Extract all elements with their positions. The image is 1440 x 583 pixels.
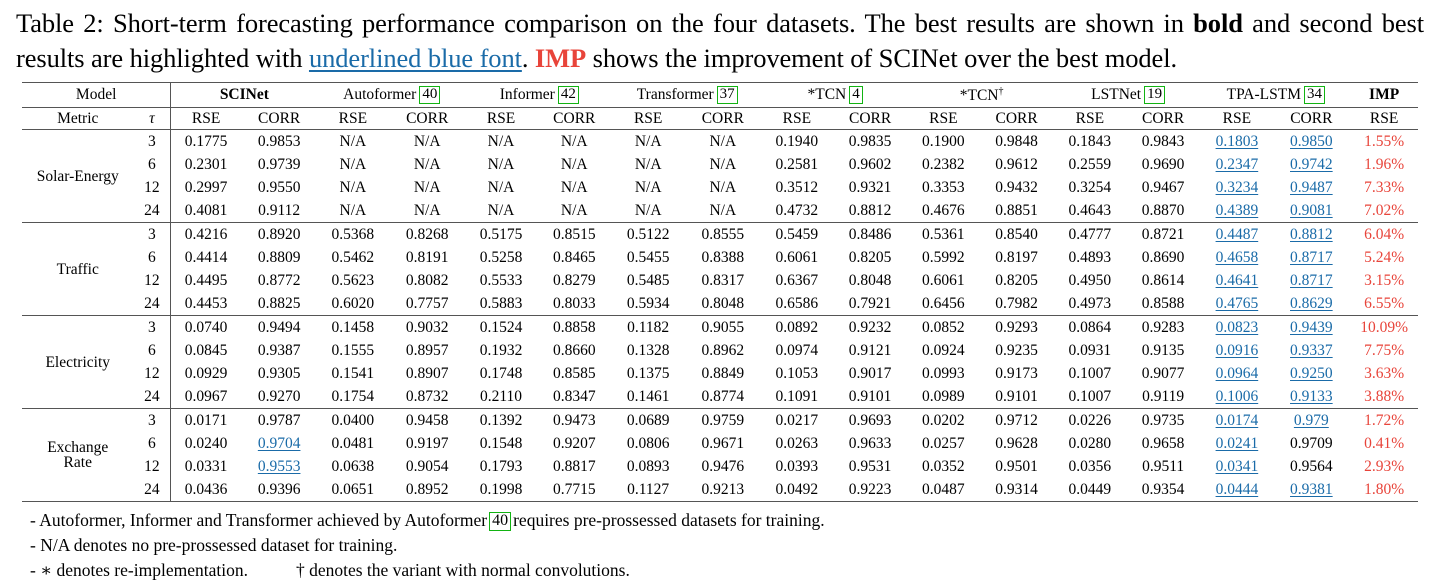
header-model-label: Model — [22, 83, 171, 108]
cell-corr: 0.9704 — [241, 432, 318, 455]
cell-rse: 0.3512 — [762, 176, 832, 199]
note-line-2: - N/A denotes no pre-prossessed dataset … — [30, 533, 1440, 558]
cell-corr: N/A — [388, 199, 466, 223]
cell-corr: 0.9232 — [832, 316, 909, 340]
cell-rse: N/A — [466, 176, 536, 199]
table-row: Traffic30.42160.89200.53680.82680.51750.… — [22, 223, 1418, 247]
header-imp-rse: RSE — [1350, 107, 1418, 130]
cell-corr: 0.8957 — [388, 339, 466, 362]
cell-rse: N/A — [466, 199, 536, 223]
caption-suffix: shows the improvement of SCINet over the… — [586, 43, 1177, 73]
cell-rse: 0.1461 — [613, 385, 684, 409]
cell-rse: 0.0202 — [908, 409, 978, 433]
cell-imp: 7.33% — [1350, 176, 1418, 199]
cell-corr: 0.9223 — [832, 478, 909, 502]
cell-corr: 0.8614 — [1125, 269, 1202, 292]
cell-rse: 0.0689 — [613, 409, 684, 433]
cell-rse: 0.0393 — [762, 455, 832, 478]
note3-text-b: † denotes the variant with normal convol… — [296, 560, 630, 580]
cell-rse: 0.0893 — [613, 455, 684, 478]
cell-corr: 0.8717 — [1272, 269, 1350, 292]
cell-rse: 0.5175 — [466, 223, 536, 247]
cell-corr: 0.9550 — [241, 176, 318, 199]
cell-corr: 0.9853 — [241, 130, 318, 154]
cell-rse: 0.0806 — [613, 432, 684, 455]
cell-rse: 0.0487 — [908, 478, 978, 502]
cell-corr: 0.9112 — [241, 199, 318, 223]
cell-corr: 0.8812 — [1272, 223, 1350, 247]
cell-rse: 0.6061 — [908, 269, 978, 292]
cell-rse: 0.0241 — [1201, 432, 1272, 455]
cell-corr: 0.9628 — [978, 432, 1055, 455]
header-corr: CORR — [684, 107, 762, 130]
cell-imp: 1.80% — [1350, 478, 1418, 502]
cell-rse: 0.1375 — [613, 362, 684, 385]
cell-corr: 0.9476 — [684, 455, 762, 478]
cell-corr: 0.8907 — [388, 362, 466, 385]
cell-corr: 0.9396 — [241, 478, 318, 502]
cell-corr: 0.8048 — [832, 269, 909, 292]
cell-corr: 0.9283 — [1125, 316, 1202, 340]
cell-imp: 7.75% — [1350, 339, 1418, 362]
results-table-wrapper: ModelSCINetAutoformer40Informer42Transfo… — [22, 82, 1418, 502]
cell-rse: 0.0740 — [171, 316, 241, 340]
cell-rse: 0.1328 — [613, 339, 684, 362]
cell-imp: 1.72% — [1350, 409, 1418, 433]
cell-rse: N/A — [613, 153, 684, 176]
cell-corr: 0.9843 — [1125, 130, 1202, 154]
model-group-name: SCINet — [220, 86, 269, 103]
table-row: 60.02400.97040.04810.91970.15480.92070.0… — [22, 432, 1418, 455]
caption-bold-word: bold — [1193, 8, 1243, 38]
cell-corr: 0.9633 — [832, 432, 909, 455]
cell-rse: 0.4216 — [171, 223, 241, 247]
cell-corr: 0.9735 — [1125, 409, 1202, 433]
cell-corr: 0.7757 — [388, 292, 466, 316]
cell-corr: 0.8629 — [1272, 292, 1350, 316]
cell-corr: 0.9121 — [832, 339, 909, 362]
cell-corr: 0.8849 — [684, 362, 762, 385]
cell-corr: 0.8082 — [388, 269, 466, 292]
cell-rse: 0.5462 — [317, 246, 388, 269]
cell-rse: 0.4973 — [1055, 292, 1125, 316]
cell-corr: 0.9602 — [832, 153, 909, 176]
table-row: Electricity30.07400.94940.14580.90320.15… — [22, 316, 1418, 340]
cell-rse: N/A — [317, 199, 388, 223]
cell-corr: 0.9739 — [241, 153, 318, 176]
cell-rse: 0.3353 — [908, 176, 978, 199]
cell-rse: 0.0964 — [1201, 362, 1272, 385]
header-corr: CORR — [978, 107, 1055, 130]
cell-corr: 0.8540 — [978, 223, 1055, 247]
cell-corr: 0.8774 — [684, 385, 762, 409]
cell-rse: 0.0924 — [908, 339, 978, 362]
header-model-transformer: Transformer37 — [613, 83, 762, 108]
cell-rse: 0.4641 — [1201, 269, 1272, 292]
cell-rse: 0.0263 — [762, 432, 832, 455]
cell-corr: 0.8205 — [832, 246, 909, 269]
cell-corr: 0.9354 — [1125, 478, 1202, 502]
cell-corr: 0.8962 — [684, 339, 762, 362]
cell-rse: 0.4453 — [171, 292, 241, 316]
cell-corr: N/A — [388, 153, 466, 176]
cell-rse: 0.0481 — [317, 432, 388, 455]
cell-corr: 0.9017 — [832, 362, 909, 385]
cell-rse: 0.2997 — [171, 176, 241, 199]
cell-rse: 0.0974 — [762, 339, 832, 362]
cell-corr: 0.7921 — [832, 292, 909, 316]
cell-corr: 0.8952 — [388, 478, 466, 502]
cell-rse: 0.5122 — [613, 223, 684, 247]
cell-rse: 0.1524 — [466, 316, 536, 340]
cell-corr: 0.8486 — [832, 223, 909, 247]
table-row: 120.29970.9550N/AN/AN/AN/AN/AN/A0.35120.… — [22, 176, 1418, 199]
cell-rse: 0.6061 — [762, 246, 832, 269]
cell-corr: 0.8205 — [978, 269, 1055, 292]
cell-corr: 0.8388 — [684, 246, 762, 269]
model-group-name: Autoformer — [343, 86, 416, 103]
cell-corr: 0.9658 — [1125, 432, 1202, 455]
cell-rse: N/A — [613, 199, 684, 223]
cell-corr: 0.9250 — [1272, 362, 1350, 385]
table-row: 60.23010.9739N/AN/AN/AN/AN/AN/A0.25810.9… — [22, 153, 1418, 176]
cell-rse: 0.2110 — [466, 385, 536, 409]
header-rse: RSE — [613, 107, 684, 130]
dataset-label-line2: Rate — [64, 454, 92, 471]
cell-rse: 0.0400 — [317, 409, 388, 433]
dataset-label-traffic: Traffic — [22, 223, 134, 316]
cell-corr: 0.8851 — [978, 199, 1055, 223]
cell-corr: 0.9337 — [1272, 339, 1350, 362]
cell-rse: 0.0240 — [171, 432, 241, 455]
citation-40[interactable]: 40 — [419, 86, 440, 104]
cell-corr: 0.9494 — [241, 316, 318, 340]
cell-corr: 0.9381 — [1272, 478, 1350, 502]
cell-corr: 0.9101 — [978, 385, 1055, 409]
cell-corr: 0.9487 — [1272, 176, 1350, 199]
cell-corr: 0.9439 — [1272, 316, 1350, 340]
header-rse: RSE — [466, 107, 536, 130]
cell-rse: 0.1007 — [1055, 362, 1125, 385]
tau-value: 24 — [134, 478, 171, 502]
cell-rse: 0.0171 — [171, 409, 241, 433]
citation-37[interactable]: 37 — [717, 86, 738, 104]
cell-corr: 0.9032 — [388, 316, 466, 340]
cell-corr: 0.8588 — [1125, 292, 1202, 316]
cell-rse: 0.5368 — [317, 223, 388, 247]
citation-42[interactable]: 42 — [558, 86, 579, 104]
cell-rse: 0.5533 — [466, 269, 536, 292]
cell-corr: 0.7715 — [536, 478, 613, 502]
header-corr: CORR — [241, 107, 318, 130]
header-rse: RSE — [317, 107, 388, 130]
cell-corr: 0.9511 — [1125, 455, 1202, 478]
header-model-tcn-dagger: *TCN† — [908, 83, 1055, 108]
table-row: 240.44530.88250.60200.77570.58830.80330.… — [22, 292, 1418, 316]
cell-rse: 0.5934 — [613, 292, 684, 316]
caption-blue-link-text: underlined blue font — [309, 43, 522, 73]
cell-rse: 0.0257 — [908, 432, 978, 455]
dagger-icon: † — [999, 86, 1004, 97]
model-group-name: *TCN — [808, 86, 847, 103]
cell-rse: 0.1006 — [1201, 385, 1272, 409]
cell-corr: 0.9693 — [832, 409, 909, 433]
citation-19[interactable]: 19 — [1144, 86, 1165, 104]
cell-rse: 0.6456 — [908, 292, 978, 316]
cell-rse: N/A — [317, 130, 388, 154]
cell-rse: N/A — [466, 153, 536, 176]
cell-corr: 0.9531 — [832, 455, 909, 478]
cell-imp: 5.24% — [1350, 246, 1418, 269]
citation-34[interactable]: 34 — [1304, 86, 1325, 104]
cell-corr: 0.8858 — [536, 316, 613, 340]
cell-rse: 0.0436 — [171, 478, 241, 502]
cell-imp: 1.55% — [1350, 130, 1418, 154]
cell-imp: 3.63% — [1350, 362, 1418, 385]
cell-corr: 0.8809 — [241, 246, 318, 269]
cell-rse: 0.1998 — [466, 478, 536, 502]
table-bottom-rule — [22, 502, 1418, 503]
cell-rse: 0.4081 — [171, 199, 241, 223]
dataset-label-exchange: ExchangeRate — [22, 409, 134, 502]
cell-rse: 0.0864 — [1055, 316, 1125, 340]
note1-citation-40[interactable]: 40 — [489, 512, 511, 531]
cell-corr: N/A — [388, 176, 466, 199]
cell-corr: 0.9759 — [684, 409, 762, 433]
table-row: 120.44950.87720.56230.80820.55330.82790.… — [22, 269, 1418, 292]
cell-corr: 0.8772 — [241, 269, 318, 292]
cell-rse: 0.5361 — [908, 223, 978, 247]
cell-rse: 0.4676 — [908, 199, 978, 223]
model-group-name: Transformer — [637, 86, 714, 103]
cell-rse: 0.5623 — [317, 269, 388, 292]
cell-corr: 0.9173 — [978, 362, 1055, 385]
cell-rse: 0.1053 — [762, 362, 832, 385]
cell-rse: 0.0331 — [171, 455, 241, 478]
model-group-name: Informer — [500, 86, 555, 103]
cell-rse: 0.1007 — [1055, 385, 1125, 409]
cell-corr: 0.8191 — [388, 246, 466, 269]
cell-rse: 0.1458 — [317, 316, 388, 340]
cell-imp: 0.41% — [1350, 432, 1418, 455]
cell-rse: 0.1541 — [317, 362, 388, 385]
tau-value: 12 — [134, 269, 171, 292]
table-row: ExchangeRate30.01710.97870.04000.94580.1… — [22, 409, 1418, 433]
cell-rse: 0.5455 — [613, 246, 684, 269]
cell-rse: 0.0217 — [762, 409, 832, 433]
cell-rse: 0.0651 — [317, 478, 388, 502]
cell-rse: 0.6020 — [317, 292, 388, 316]
table-figure-page: Table 2: Short-term forecasting performa… — [0, 0, 1440, 545]
cell-corr: 0.979 — [1272, 409, 1350, 433]
cell-corr: 0.9054 — [388, 455, 466, 478]
table-caption: Table 2: Short-term forecasting performa… — [0, 0, 1440, 76]
cell-rse: 0.1555 — [317, 339, 388, 362]
cell-rse: 0.2382 — [908, 153, 978, 176]
cell-rse: 0.5992 — [908, 246, 978, 269]
cell-corr: 0.9077 — [1125, 362, 1202, 385]
header-row-metrics: MetricτRSECORRRSECORRRSECORRRSECORRRSECO… — [22, 107, 1418, 130]
tau-value: 3 — [134, 409, 171, 433]
cell-corr: 0.9119 — [1125, 385, 1202, 409]
header-rse: RSE — [1055, 107, 1125, 130]
cell-rse: N/A — [317, 176, 388, 199]
cell-rse: 0.2559 — [1055, 153, 1125, 176]
cell-corr: 0.8585 — [536, 362, 613, 385]
tau-value: 3 — [134, 130, 171, 154]
cell-corr: 0.7982 — [978, 292, 1055, 316]
cell-rse: 0.0356 — [1055, 455, 1125, 478]
cell-corr: N/A — [536, 176, 613, 199]
cell-rse: 0.0967 — [171, 385, 241, 409]
cell-corr: 0.9612 — [978, 153, 1055, 176]
cell-corr: N/A — [684, 153, 762, 176]
table-row: Solar-Energy30.17750.9853N/AN/AN/AN/AN/A… — [22, 130, 1418, 154]
cell-rse: 0.5459 — [762, 223, 832, 247]
cell-rse: 0.0916 — [1201, 339, 1272, 362]
tau-value: 3 — [134, 223, 171, 247]
cell-corr: 0.8465 — [536, 246, 613, 269]
model-group-name: LSTNet — [1091, 86, 1141, 103]
cell-rse: N/A — [317, 153, 388, 176]
table-notes: - Autoformer, Informer and Transformer a… — [30, 508, 1440, 583]
cell-imp: 6.55% — [1350, 292, 1418, 316]
cell-rse: 0.2301 — [171, 153, 241, 176]
note-line-3: - ∗ denotes re-implementation.† denotes … — [30, 558, 1440, 583]
cell-corr: 0.9564 — [1272, 455, 1350, 478]
cell-corr: 0.9742 — [1272, 153, 1350, 176]
tau-value: 6 — [134, 432, 171, 455]
note3-text-a: - ∗ denotes re-implementation. — [30, 560, 248, 580]
cell-rse: 0.1932 — [466, 339, 536, 362]
header-corr: CORR — [536, 107, 613, 130]
cell-rse: 0.0993 — [908, 362, 978, 385]
cell-corr: 0.9787 — [241, 409, 318, 433]
cell-rse: 0.1775 — [171, 130, 241, 154]
tau-value: 24 — [134, 199, 171, 223]
cell-rse: 0.5258 — [466, 246, 536, 269]
cell-corr: 0.9213 — [684, 478, 762, 502]
header-rse: RSE — [908, 107, 978, 130]
cell-corr: 0.8555 — [684, 223, 762, 247]
cell-corr: 0.9850 — [1272, 130, 1350, 154]
tau-value: 6 — [134, 339, 171, 362]
cell-rse: 0.4732 — [762, 199, 832, 223]
table-row: 240.04360.93960.06510.89520.19980.77150.… — [22, 478, 1418, 502]
tau-value: 12 — [134, 362, 171, 385]
cell-rse: 0.0845 — [171, 339, 241, 362]
cell-rse: 0.4893 — [1055, 246, 1125, 269]
cell-rse: 0.3254 — [1055, 176, 1125, 199]
header-model-tpa-lstm: TPA-LSTM34 — [1201, 83, 1350, 108]
cell-rse: 0.2347 — [1201, 153, 1272, 176]
header-metric-label: Metric — [22, 107, 134, 130]
table-row: 240.40810.9112N/AN/AN/AN/AN/AN/A0.47320.… — [22, 199, 1418, 223]
header-rse: RSE — [171, 107, 241, 130]
cell-rse: 0.6586 — [762, 292, 832, 316]
header-corr: CORR — [832, 107, 909, 130]
cell-corr: 0.9321 — [832, 176, 909, 199]
cell-corr: 0.9709 — [1272, 432, 1350, 455]
cell-corr: 0.8732 — [388, 385, 466, 409]
cell-corr: 0.8033 — [536, 292, 613, 316]
cell-corr: 0.9473 — [536, 409, 613, 433]
cell-rse: 0.4950 — [1055, 269, 1125, 292]
cell-corr: 0.9553 — [241, 455, 318, 478]
cell-rse: 0.4777 — [1055, 223, 1125, 247]
cell-rse: 0.0931 — [1055, 339, 1125, 362]
tau-value: 12 — [134, 455, 171, 478]
cell-rse: 0.0492 — [762, 478, 832, 502]
cell-rse: 0.0341 — [1201, 455, 1272, 478]
cell-corr: 0.9690 — [1125, 153, 1202, 176]
cell-corr: 0.9293 — [978, 316, 1055, 340]
cell-rse: 0.1748 — [466, 362, 536, 385]
cell-rse: 0.1803 — [1201, 130, 1272, 154]
table-row: 120.03310.95530.06380.90540.17930.88170.… — [22, 455, 1418, 478]
note1-text-a: - Autoformer, Informer and Transformer a… — [30, 510, 487, 530]
cell-corr: N/A — [536, 153, 613, 176]
cell-imp: 7.02% — [1350, 199, 1418, 223]
tau-value: 6 — [134, 153, 171, 176]
cell-rse: 0.1793 — [466, 455, 536, 478]
cell-corr: 0.8048 — [684, 292, 762, 316]
header-model-informer: Informer42 — [466, 83, 613, 108]
cell-corr: 0.9055 — [684, 316, 762, 340]
dataset-label-electricity: Electricity — [22, 316, 134, 409]
cell-rse: 0.0852 — [908, 316, 978, 340]
cell-rse: 0.0638 — [317, 455, 388, 478]
header-imp: IMP — [1350, 83, 1418, 108]
cell-corr: 0.8690 — [1125, 246, 1202, 269]
cell-corr: 0.9305 — [241, 362, 318, 385]
cell-corr: N/A — [684, 199, 762, 223]
header-corr: CORR — [1272, 107, 1350, 130]
cell-corr: 0.8317 — [684, 269, 762, 292]
cell-rse: N/A — [466, 130, 536, 154]
cell-corr: 0.8812 — [832, 199, 909, 223]
cell-rse: 0.1182 — [613, 316, 684, 340]
tau-value: 3 — [134, 316, 171, 340]
cell-rse: N/A — [613, 176, 684, 199]
table-row: 60.44140.88090.54620.81910.52580.84650.5… — [22, 246, 1418, 269]
cell-corr: 0.9133 — [1272, 385, 1350, 409]
citation-4[interactable]: 4 — [849, 86, 863, 104]
cell-rse: 0.1900 — [908, 130, 978, 154]
cell-corr: 0.9848 — [978, 130, 1055, 154]
cell-corr: 0.8817 — [536, 455, 613, 478]
cell-imp: 2.93% — [1350, 455, 1418, 478]
header-corr: CORR — [388, 107, 466, 130]
table-row: 240.09670.92700.17540.87320.21100.83470.… — [22, 385, 1418, 409]
cell-rse: 0.4658 — [1201, 246, 1272, 269]
caption-prefix: Table 2: Short-term forecasting performa… — [16, 8, 1193, 38]
cell-rse: 0.0449 — [1055, 478, 1125, 502]
cell-rse: 0.4765 — [1201, 292, 1272, 316]
cell-rse: N/A — [613, 130, 684, 154]
cell-corr: 0.9270 — [241, 385, 318, 409]
cell-corr: 0.9135 — [1125, 339, 1202, 362]
cell-corr: 0.8920 — [241, 223, 318, 247]
cell-corr: 0.8279 — [536, 269, 613, 292]
cell-rse: 0.1754 — [317, 385, 388, 409]
tau-value: 12 — [134, 176, 171, 199]
note-line-1: - Autoformer, Informer and Transformer a… — [30, 508, 1440, 533]
cell-imp: 3.15% — [1350, 269, 1418, 292]
cell-rse: 0.6367 — [762, 269, 832, 292]
tau-value: 24 — [134, 385, 171, 409]
cell-rse: 0.0989 — [908, 385, 978, 409]
